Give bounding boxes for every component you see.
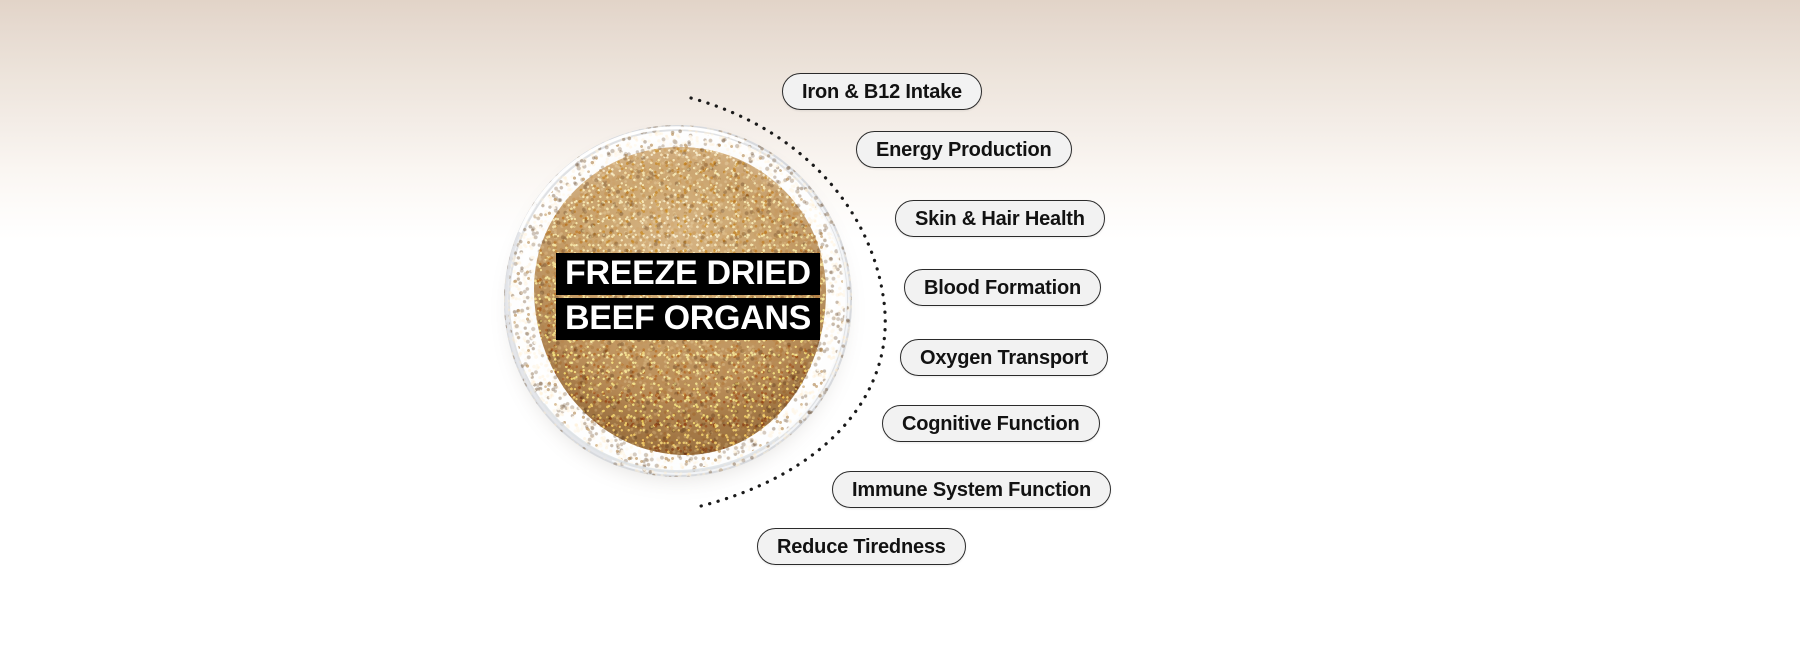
benefit-pill[interactable]: Reduce Tiredness	[757, 528, 966, 565]
benefit-pill[interactable]: Energy Production	[856, 131, 1072, 168]
benefit-pill[interactable]: Cognitive Function	[882, 405, 1100, 442]
benefit-pill[interactable]: Blood Formation	[904, 269, 1101, 306]
benefit-pill[interactable]: Iron & B12 Intake	[782, 73, 982, 110]
benefit-pill[interactable]: Skin & Hair Health	[895, 200, 1105, 237]
benefit-pill[interactable]: Oxygen Transport	[900, 339, 1108, 376]
product-title: FREEZE DRIED BEEF ORGANS	[556, 253, 806, 340]
benefit-pill[interactable]: Immune System Function	[832, 471, 1111, 508]
product-title-line-1: FREEZE DRIED	[556, 253, 820, 295]
product-title-line-2: BEEF ORGANS	[556, 298, 820, 340]
infographic-canvas: FREEZE DRIED BEEF ORGANS Iron & B12 Inta…	[0, 0, 1800, 650]
